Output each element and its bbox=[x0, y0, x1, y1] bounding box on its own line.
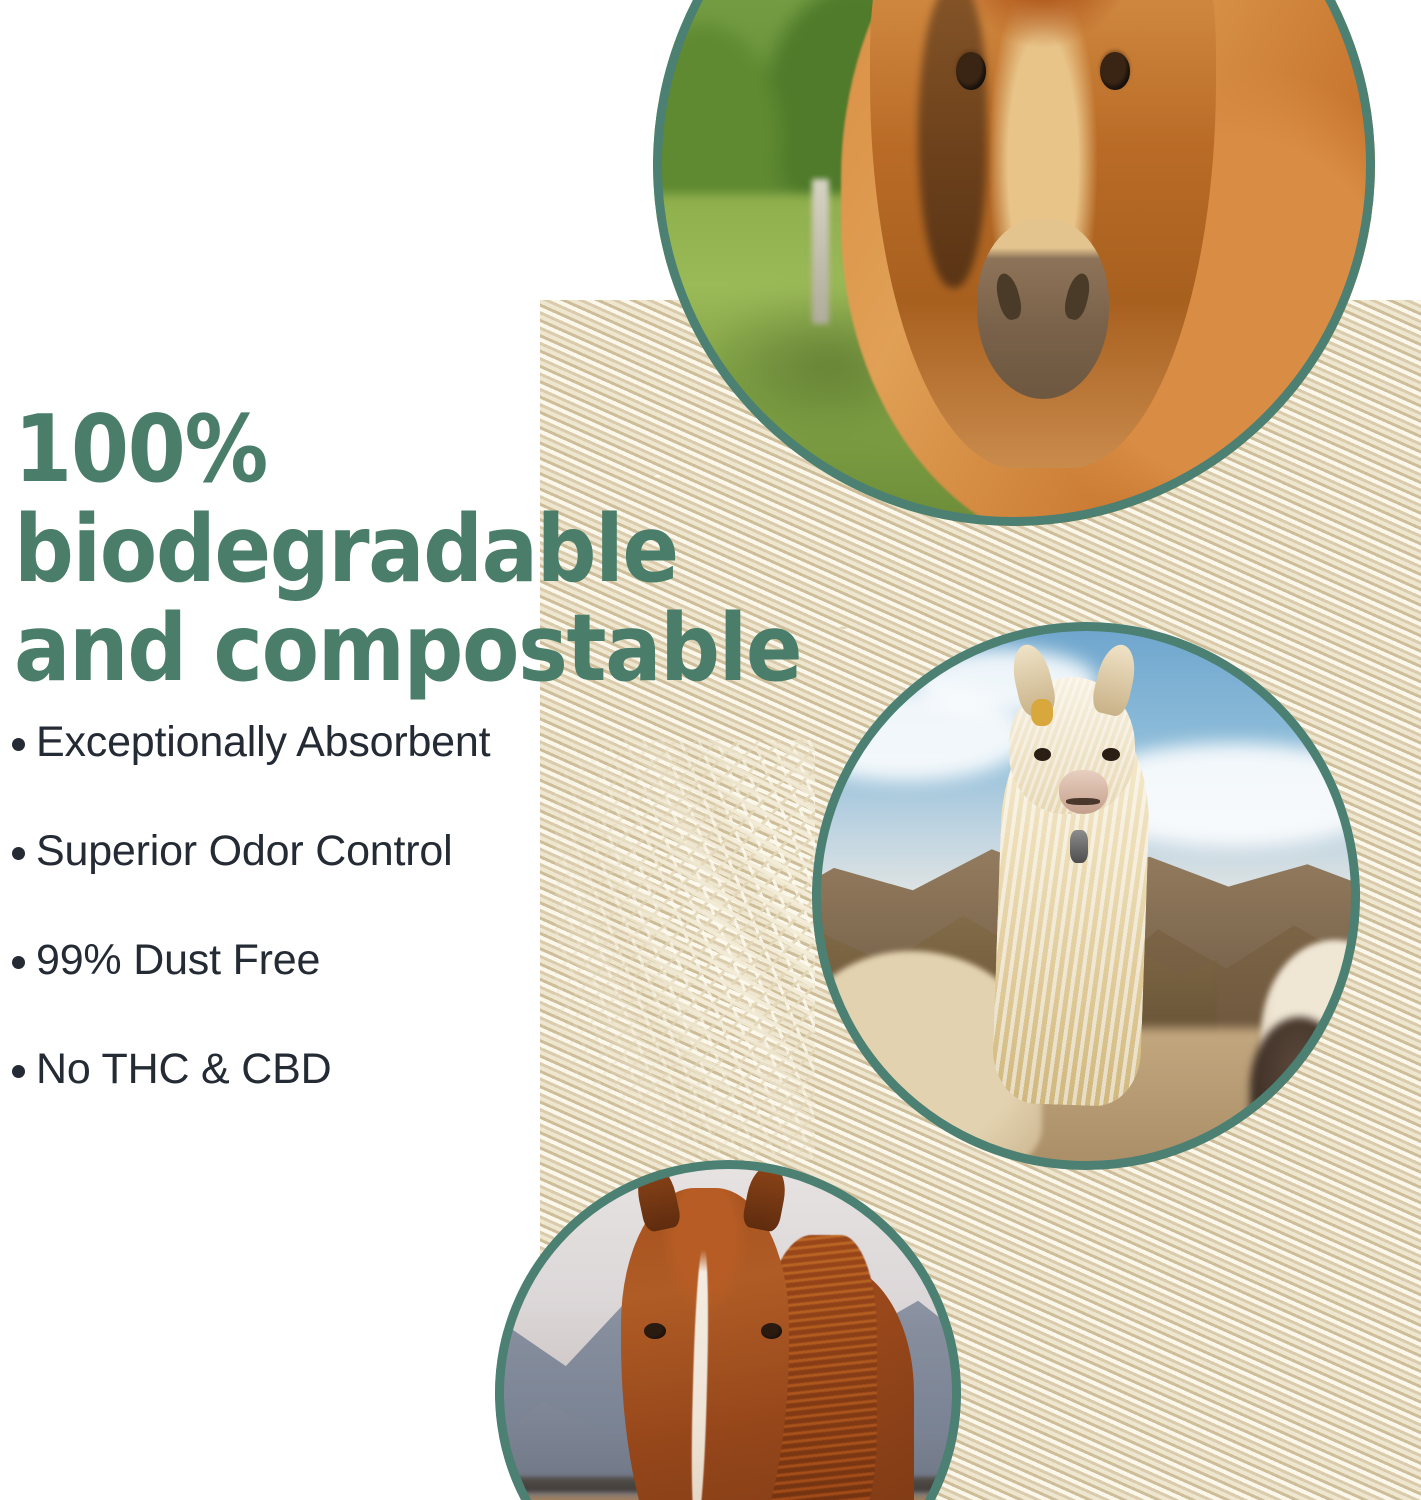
horse-photo bbox=[495, 1160, 961, 1500]
list-item: No THC & CBD bbox=[6, 1045, 626, 1093]
bullet-icon bbox=[12, 956, 25, 969]
bullet-icon bbox=[12, 738, 25, 751]
horse-eye-right bbox=[761, 1323, 782, 1339]
cow-eye-right bbox=[1100, 52, 1129, 89]
alpaca-snout bbox=[1059, 770, 1108, 814]
photo-circle-alpaca bbox=[812, 622, 1360, 1170]
feature-label: Superior Odor Control bbox=[36, 827, 452, 875]
list-item: Exceptionally Absorbent bbox=[6, 718, 626, 766]
cow-fence-post bbox=[812, 179, 829, 323]
feature-label: Exceptionally Absorbent bbox=[36, 718, 490, 766]
alpaca-eye-right bbox=[1102, 748, 1120, 761]
horse-blaze bbox=[689, 1244, 711, 1500]
product-feature-panel: 100% biodegradable and compostable Excep… bbox=[0, 0, 1421, 1500]
bullet-icon bbox=[12, 1065, 25, 1078]
photo-circle-horse bbox=[495, 1160, 961, 1500]
feature-label: No THC & CBD bbox=[36, 1045, 331, 1093]
cow-eye-left bbox=[956, 52, 985, 89]
cow-muzzle bbox=[977, 219, 1109, 399]
feature-label: 99% Dust Free bbox=[36, 936, 320, 984]
bullet-icon bbox=[12, 847, 25, 860]
horse-head bbox=[621, 1188, 789, 1500]
list-item: 99% Dust Free bbox=[6, 936, 626, 984]
alpaca-ear-tag bbox=[1031, 699, 1053, 726]
alpaca-photo bbox=[812, 622, 1360, 1170]
alpaca-bell bbox=[1070, 830, 1089, 863]
feature-list: Exceptionally Absorbent Superior Odor Co… bbox=[6, 718, 626, 1094]
page-title: 100% biodegradable and compostable bbox=[14, 400, 894, 699]
horse-eye-left bbox=[644, 1323, 665, 1339]
list-item: Superior Odor Control bbox=[6, 827, 626, 875]
